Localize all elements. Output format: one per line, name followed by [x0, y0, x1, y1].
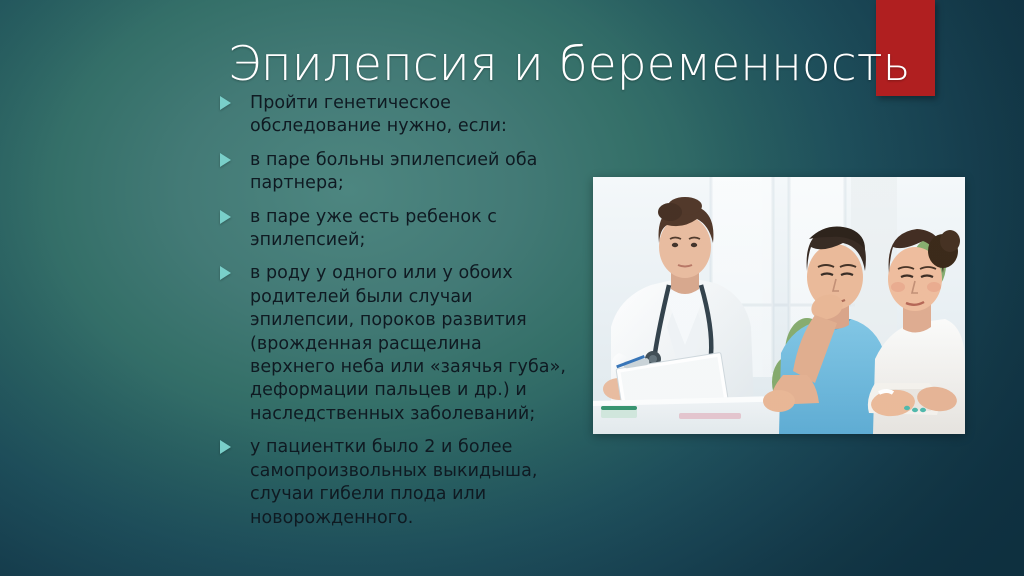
bullet-text: в паре уже есть ребенок с эпилепсией;	[250, 206, 566, 253]
bullet-triangle-icon	[220, 440, 231, 454]
bullet-triangle-icon	[220, 210, 231, 224]
bullet-text: в паре больны эпилепсией оба партнера;	[250, 149, 566, 196]
bullet-list: Пройти генетическое обследование нужно, …	[216, 92, 566, 540]
bullet-triangle-icon	[220, 153, 231, 167]
list-item: у пациентки было 2 и более самопроизволь…	[216, 436, 566, 530]
consultation-photo	[593, 177, 965, 434]
slide-title: Эпилепсия и беременность	[228, 33, 878, 97]
list-item: в паре уже есть ребенок с эпилепсией;	[216, 206, 566, 253]
presentation-slide: Эпилепсия и беременность Пройти генетиче…	[0, 0, 1024, 576]
bullet-text: в роду у одного или у обоих родителей бы…	[250, 262, 566, 426]
bullet-text: у пациентки было 2 и более самопроизволь…	[250, 436, 566, 530]
list-item: Пройти генетическое обследование нужно, …	[216, 92, 566, 139]
bullet-triangle-icon	[220, 266, 231, 280]
list-item: в паре больны эпилепсией оба партнера;	[216, 149, 566, 196]
bullet-text: Пройти генетическое обследование нужно, …	[250, 92, 566, 139]
list-item: в роду у одного или у обоих родителей бы…	[216, 262, 566, 426]
bullet-triangle-icon	[220, 96, 231, 110]
